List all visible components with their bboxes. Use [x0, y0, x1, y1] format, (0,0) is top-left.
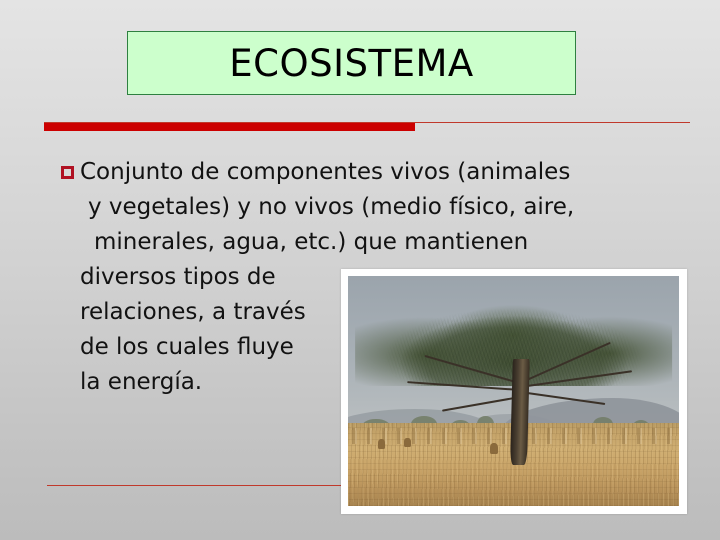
body-line: minerales, agua, etc.) que mantienen: [80, 225, 680, 260]
divider-rule-thick-top: [44, 123, 415, 131]
photo-acacia-trunk: [510, 359, 530, 465]
body-line: Conjunto de componentes vivos (animales: [80, 155, 680, 190]
photo-gazelle: [378, 439, 385, 449]
slide-canvas: ECOSISTEMA Conjunto de componentes vivos…: [0, 0, 720, 540]
square-bullet-icon: [61, 166, 74, 179]
savanna-acacia-photo: [348, 276, 679, 506]
page-title: ECOSISTEMA: [229, 45, 473, 82]
photo-frame: [341, 269, 687, 514]
title-box: ECOSISTEMA: [127, 31, 576, 95]
photo-gazelle: [404, 438, 411, 447]
divider-rule-bottom: [47, 485, 343, 486]
photo-gazelle: [490, 443, 498, 455]
body-line: y vegetales) y no vivos (medio físico, a…: [80, 190, 680, 225]
